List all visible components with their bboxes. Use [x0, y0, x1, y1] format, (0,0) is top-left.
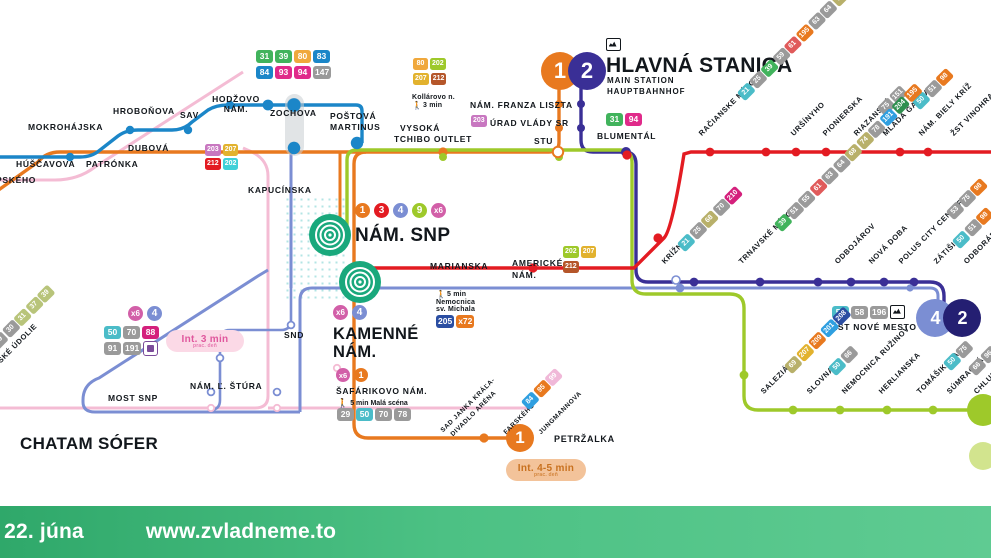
bus-badge[interactable]: 191	[123, 342, 141, 355]
line-circle-1[interactable]: 1	[354, 368, 368, 382]
walk-icon: 🚶	[412, 101, 422, 110]
station-label-hodzovo-nam: HODŽOVO NÁM.	[205, 94, 267, 114]
bus-badge[interactable]: 93	[275, 66, 292, 79]
kollarovo-walk-note: Kollárovo n. 🚶 3 min	[412, 94, 455, 110]
footer-url[interactable]: www.zvladneme.to	[146, 520, 336, 544]
bus-badge[interactable]: 202	[563, 246, 579, 258]
line-circle-x6[interactable]: x6	[336, 368, 350, 382]
bus-badge[interactable]: 202	[223, 158, 239, 170]
station-label-patronka: PATRÓNKA	[86, 159, 139, 169]
footer-banner: od 22. júna www.zvladneme.to	[0, 506, 991, 558]
badges-urad-vlady[interactable]: 203	[471, 115, 487, 127]
badges-americke-row1[interactable]: 202 207	[563, 246, 596, 258]
safarikovo-badges[interactable]: 29 50 70 78	[337, 408, 411, 421]
badges-americke-row2[interactable]: 212	[563, 261, 579, 273]
station-label-sad-janka-krala-1: SAD JANKA KRÁĽA-	[440, 377, 497, 434]
station-dot-layer	[0, 0, 991, 558]
bus-badge[interactable]: 80	[413, 58, 428, 70]
station-label-americke-2: NÁM.	[512, 270, 537, 280]
bus-badge[interactable]: 207	[413, 73, 429, 85]
bus-badge[interactable]: 83	[313, 50, 330, 63]
station-label-marianska: MARIANSKA	[430, 261, 488, 271]
badges-vysoka-row2[interactable]: 207 212	[413, 73, 446, 85]
station-label-chatam-sofer: CHATAM SÓFER	[20, 434, 158, 454]
bus-icon	[143, 341, 158, 356]
interval-subtext: prac. deň	[534, 472, 558, 478]
station-label-mokrohajska: MOKROHÁJSKA	[28, 122, 103, 132]
bus-badge[interactable]: 58	[851, 306, 868, 319]
station-label-snd: SND	[284, 330, 304, 340]
kamenne-line-circles[interactable]: x6 4	[333, 305, 367, 320]
train-icon	[606, 38, 621, 51]
bus-badge[interactable]: 91	[104, 342, 121, 355]
station-label-martinus: MARTINUS	[330, 122, 380, 132]
line-circle-4[interactable]: 4	[393, 203, 408, 218]
badges-zochova-row1[interactable]: 31 39 80 83	[256, 50, 330, 63]
line-circle-x6[interactable]: x6	[333, 305, 348, 320]
station-label-zochova: ZOCHOVA	[270, 108, 317, 118]
station-label-postova: POŠTOVÁ	[330, 111, 376, 121]
badges-karlovske-udolie[interactable]: 29 30 31 37 39	[0, 284, 56, 350]
station-label-nam-l-stura: NÁM. Ľ. ŠTÚRA	[190, 381, 262, 391]
line-circle-x6[interactable]: x6	[128, 306, 143, 321]
badge-fan[interactable]: 21256870210	[676, 186, 742, 252]
bus-badge[interactable]: 147	[313, 66, 331, 79]
bus-badge[interactable]: 70	[375, 408, 392, 421]
train-icon	[890, 305, 905, 319]
line-layer	[0, 0, 991, 558]
bus-badge[interactable]: 84	[256, 66, 273, 79]
bus-badge[interactable]: 88	[142, 326, 159, 339]
bus-badge[interactable]: 207	[581, 246, 597, 258]
bus-badge[interactable]: 70	[123, 326, 140, 339]
badges-jungmannova[interactable]: 84 95 99	[521, 368, 563, 410]
bus-badge[interactable]: 50	[104, 326, 121, 339]
bus-badge[interactable]: 202	[430, 58, 446, 70]
bus-badge[interactable]: 203	[205, 144, 221, 156]
nemocnica-line2: sv. Michala	[436, 306, 475, 313]
footer-date-text: od 22. júna	[0, 520, 84, 544]
bus-badge[interactable]: 31	[606, 113, 623, 126]
line-circle-4[interactable]: 4	[147, 306, 162, 321]
bus-badge[interactable]: 31	[256, 50, 273, 63]
station-label-hrobonova: HROBOŇOVA	[113, 106, 175, 116]
station-label-franza-liszta: NÁM. FRANZA LISZTA	[470, 100, 573, 110]
hub-subtitle-main-station: MAIN STATION	[607, 76, 674, 85]
station-label-sav: SAV	[180, 110, 199, 120]
most-snp-badges-row1[interactable]: 50 70 88	[104, 326, 159, 339]
dot-texture	[284, 196, 346, 302]
transit-map: 1 2 HLAVNÁ STANICA MAIN STATION HAUPTBAH…	[0, 0, 991, 558]
hub-subtitle-hauptbahnhof: HAUPTBAHNHOF	[607, 87, 685, 96]
station-label-most-snp: MOST SNP	[108, 393, 158, 403]
badges-kapucinska-row2[interactable]: 212 202	[205, 158, 238, 170]
bus-badge[interactable]: 196	[870, 306, 888, 319]
line-circle-1[interactable]: 1	[355, 203, 370, 218]
station-label-tchibo-outlet: TCHIBO OUTLET	[394, 134, 472, 144]
interval-pill-petrzalka: Int. 4-5 min prac. deň	[506, 459, 586, 481]
snp-line-circles[interactable]: 1 3 4 9 x6	[355, 203, 446, 218]
station-label-safarikovo: ŠAFÁRIKOVO NÁM.	[336, 386, 427, 396]
station-label-americke-1: AMERICKÉ	[512, 258, 563, 268]
bus-badge[interactable]: 78	[394, 408, 411, 421]
line-circle-3[interactable]: 3	[374, 203, 389, 218]
station-label-vysoka: VYSOKÁ	[400, 123, 440, 133]
line-circle-2-zst[interactable]: 2	[948, 304, 977, 333]
badges-blumental[interactable]: 31 94	[606, 113, 642, 126]
interval-subtext: prac. deň	[193, 343, 217, 349]
bus-badge[interactable]: 203	[471, 115, 487, 127]
hub-title-kamenne-nam-line2: NÁM.	[333, 343, 376, 362]
walk-icon: 🚶	[436, 290, 446, 299]
hub-title-kamenne-nam-line1: KAMENNÉ	[333, 325, 419, 344]
bus-badge[interactable]: 94	[625, 113, 642, 126]
most-snp-line-circles[interactable]: x6 4	[128, 306, 162, 321]
bus-badge[interactable]: 80	[294, 50, 311, 63]
bus-badge[interactable]: 29	[337, 408, 354, 421]
nemocnica-walk-min: 5 min	[447, 291, 466, 298]
walk-text: 5 min Malá scéna	[350, 400, 408, 407]
bus-badge[interactable]: 50	[356, 408, 373, 421]
bus-badge[interactable]: 212	[563, 261, 579, 273]
hub-title-nam-snp: NÁM. SNP	[355, 225, 450, 247]
most-snp-badges-row2[interactable]: 91 191	[104, 341, 158, 356]
station-label-dubova: DUBOVÁ	[128, 143, 169, 153]
line-circle-4-zst[interactable]: 4	[921, 304, 950, 333]
line-circle-4[interactable]: 4	[352, 305, 367, 320]
badges-vysoka-row1[interactable]: 80 202	[413, 58, 446, 70]
bus-badge[interactable]: 205	[436, 315, 454, 328]
bus-badge[interactable]: x72	[456, 315, 474, 328]
badges-zochova-row2[interactable]: 84 93 94 147	[256, 66, 331, 79]
station-label-urad-vlady: ÚRAD VLÁDY SR	[490, 118, 569, 128]
kollarovo-walk: 3 min	[423, 102, 442, 109]
nemocnica-line1: Nemocnica	[436, 299, 475, 306]
line-circle-9[interactable]: 9	[412, 203, 427, 218]
line-circle-2-hlavna[interactable]: 2	[568, 52, 606, 90]
line-circle-x6[interactable]: x6	[431, 203, 446, 218]
nemocnica-walk-note: 🚶 5 min Nemocnica sv. Michala 205 x72	[436, 290, 475, 328]
station-label-petrzalka: PETRŽALKA	[554, 434, 615, 444]
station-label-kapucinska: KAPUCÍNSKA	[248, 185, 312, 195]
bus-badge[interactable]: 94	[294, 66, 311, 79]
station-label-left-edge: PSKÉHO	[0, 175, 36, 185]
badges-kapucinska-row1[interactable]: 203 207	[205, 144, 238, 156]
badge-fan[interactable]: 2125395961195636474191204210	[737, 0, 886, 101]
hub-marker-layer	[0, 0, 991, 558]
safarikovo-line-circles[interactable]: x6 1	[336, 368, 368, 382]
station-label-blumental: BLUMENTÁL	[597, 131, 656, 141]
station-label-jungmannova: JUNGMANNOVA	[538, 390, 584, 436]
bus-badge[interactable]: 212	[205, 158, 221, 170]
bus-badge[interactable]: 212	[431, 73, 447, 85]
station-label-stu: STU	[534, 136, 553, 146]
badge-fan[interactable]: 6696196	[967, 334, 991, 377]
nemocnica-badges[interactable]: 205 x72	[436, 315, 475, 328]
station-label-huscavova: HÚŠČAVOVA	[16, 159, 75, 169]
bus-badge[interactable]: 39	[275, 50, 292, 63]
kollarovo-title: Kollárovo n.	[412, 94, 455, 101]
interval-pill-most-snp: Int. 3 min prac. deň	[166, 330, 244, 352]
bus-badge[interactable]: 207	[223, 144, 239, 156]
